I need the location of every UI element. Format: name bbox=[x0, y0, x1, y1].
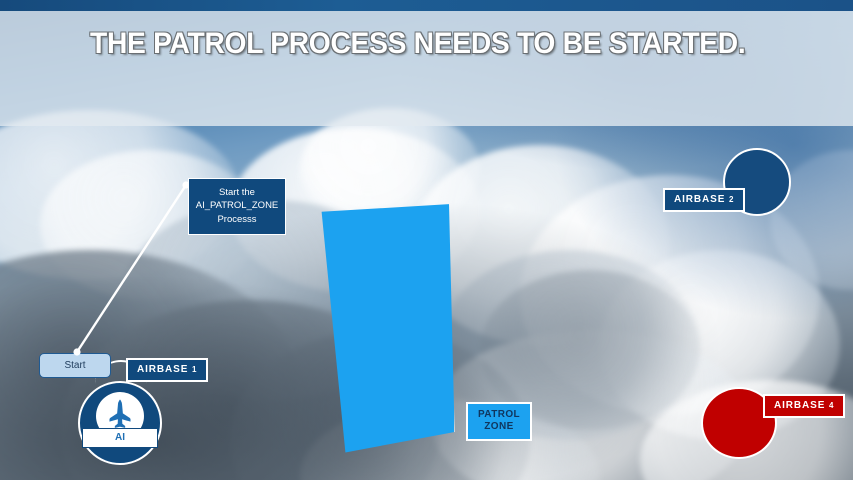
top-accent-strip bbox=[0, 0, 853, 11]
slide-canvas: THE PATROL PROCESS NEEDS TO BE STARTED. … bbox=[0, 0, 853, 480]
callout-line-3: Processs bbox=[194, 213, 280, 226]
airbase-1-name: AIRBASE bbox=[137, 364, 188, 375]
airbase-1-label[interactable]: AIRBASE 1 bbox=[126, 358, 208, 382]
airbase-2-label[interactable]: AIRBASE 2 bbox=[663, 188, 745, 212]
patrol-zone-label-line1: PATROL bbox=[472, 409, 526, 421]
airbase-4-number: 4 bbox=[829, 401, 834, 410]
patrol-zone-label-line2: ZONE bbox=[472, 421, 526, 433]
start-button[interactable]: Start bbox=[39, 353, 111, 378]
airbase-2-name: AIRBASE bbox=[674, 194, 725, 205]
airbase-1-number: 1 bbox=[192, 365, 197, 374]
airbase-2-number: 2 bbox=[729, 195, 734, 204]
page-title: THE PATROL PROCESS NEEDS TO BE STARTED. bbox=[90, 26, 748, 63]
airbase-4-name: AIRBASE bbox=[774, 400, 825, 411]
airbase-4-label[interactable]: AIRBASE 4 bbox=[763, 394, 845, 418]
callout-line-1: Start the bbox=[194, 186, 280, 199]
callout-box[interactable]: Start the AI_PATROL_ZONE Processs bbox=[188, 178, 286, 235]
callout-line-2: AI_PATROL_ZONE bbox=[194, 199, 280, 212]
ai-node-label[interactable]: AI bbox=[82, 428, 158, 448]
patrol-zone-label[interactable]: PATROL ZONE bbox=[466, 402, 532, 441]
